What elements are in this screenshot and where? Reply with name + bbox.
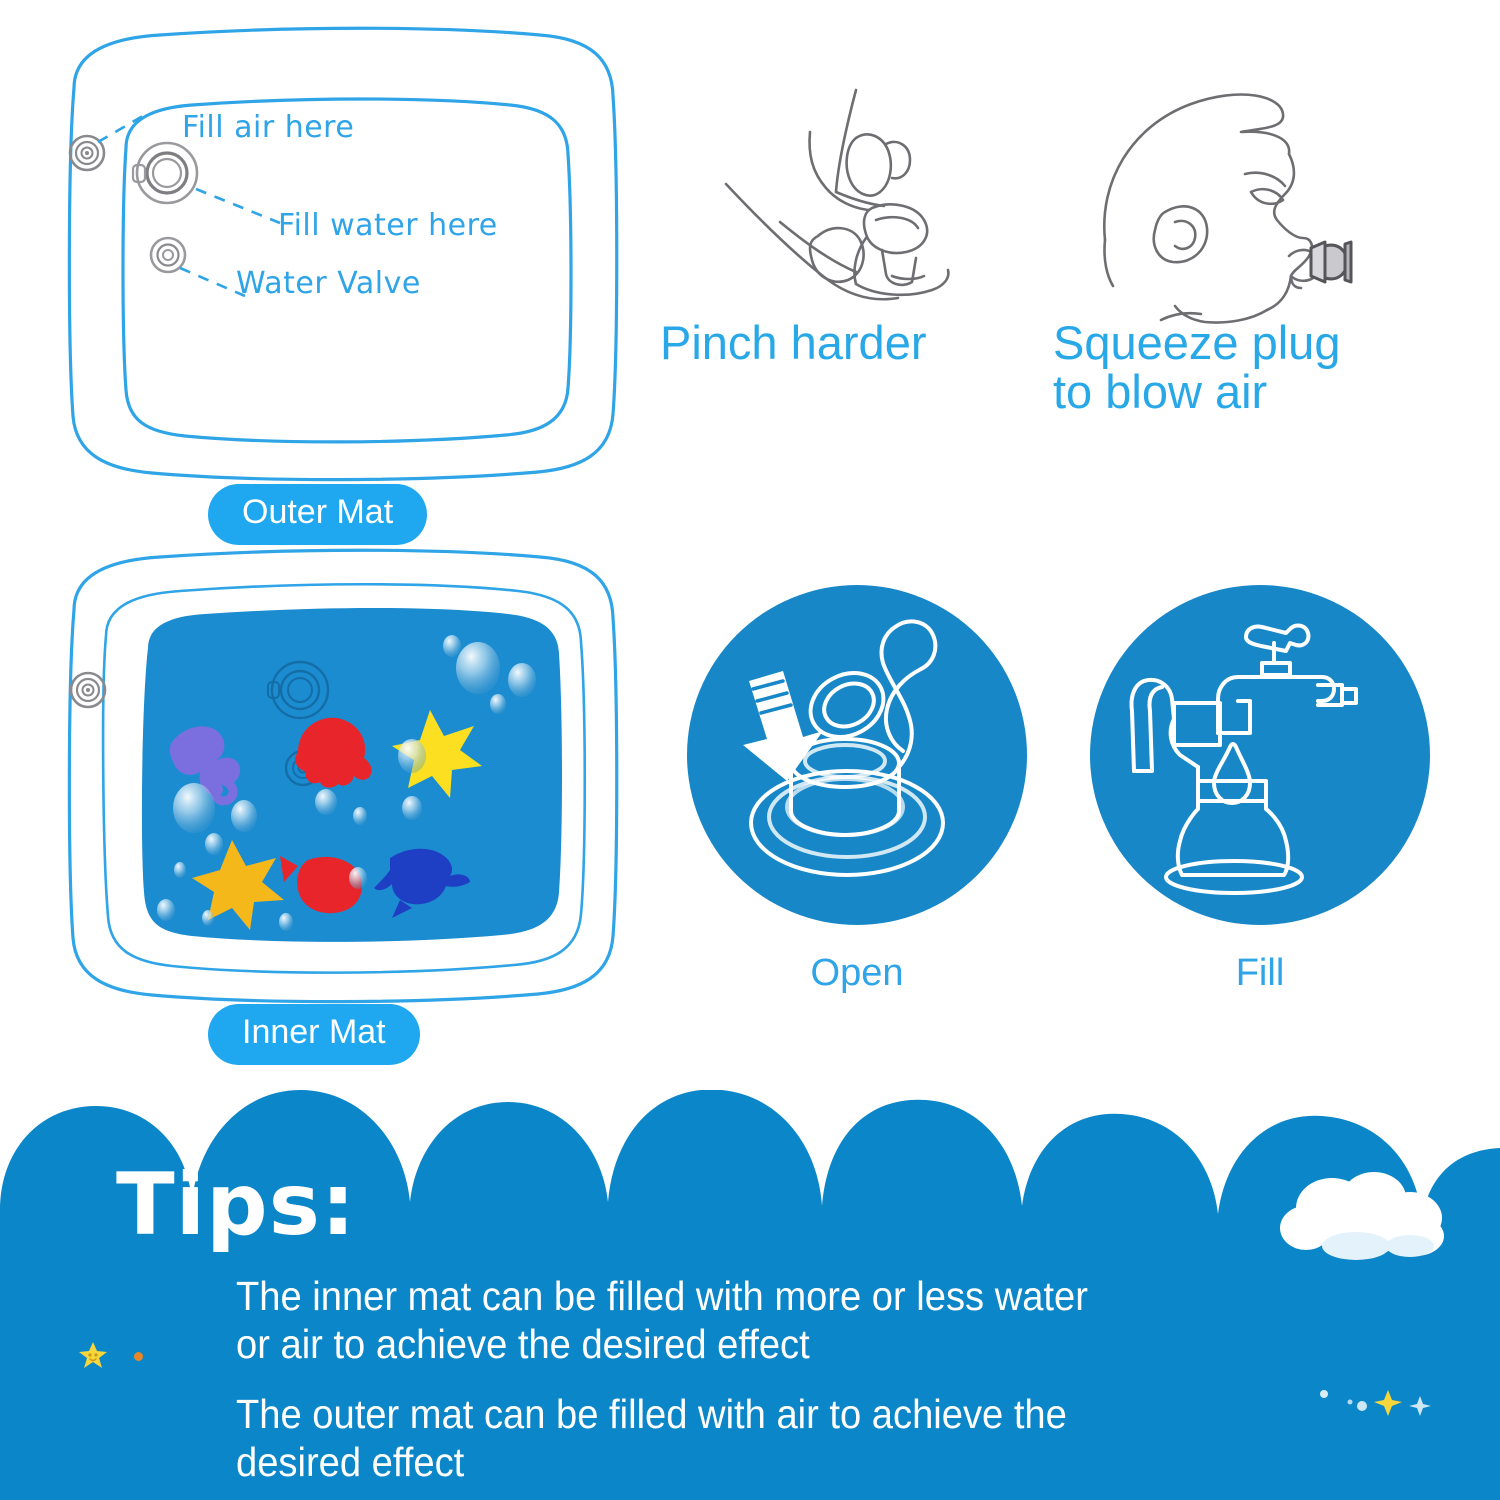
bubble bbox=[349, 867, 367, 889]
outer-mat-outline bbox=[40, 18, 640, 488]
bubble bbox=[174, 862, 186, 878]
air-valve-icon bbox=[71, 673, 105, 707]
inner-mat-outline bbox=[40, 540, 640, 1010]
bubble bbox=[173, 783, 215, 833]
bubble bbox=[443, 635, 461, 657]
bubble bbox=[508, 663, 536, 697]
bubble bbox=[157, 899, 175, 921]
caption-open: Open bbox=[687, 952, 1027, 995]
caption-squeeze-plug: Squeeze plug to blow air bbox=[1053, 318, 1340, 417]
outer-mat-diagram: Fill air here Fill water here Water Valv… bbox=[40, 18, 640, 488]
tip-line-outer-mat: The outer mat can be filled with air to … bbox=[236, 1390, 1287, 1487]
instruction-sheet: Fill air here Fill water here Water Valv… bbox=[0, 0, 1500, 1500]
bubble bbox=[205, 833, 223, 855]
cloud-icon bbox=[1270, 1168, 1460, 1278]
inner-mat-diagram bbox=[40, 540, 640, 1010]
bubble bbox=[353, 807, 367, 825]
caption-fill: Fill bbox=[1090, 952, 1430, 995]
valve-open-arrow-icon bbox=[687, 585, 1027, 925]
star-icon bbox=[78, 1340, 108, 1370]
caption-pinch-harder: Pinch harder bbox=[660, 318, 927, 367]
bubble bbox=[402, 796, 422, 820]
bubble bbox=[315, 789, 337, 815]
dot-icon bbox=[134, 1352, 143, 1361]
water-fill-valve-icon bbox=[133, 143, 197, 203]
bubble bbox=[490, 694, 506, 714]
tips-heading: Tips: bbox=[116, 1155, 356, 1255]
badge-outer-mat: Outer Mat bbox=[208, 484, 427, 545]
callout-label-fill-water: Fill water here bbox=[278, 208, 498, 243]
bubble bbox=[202, 910, 214, 926]
callout-label-water-valve: Water Valve bbox=[236, 266, 421, 301]
bubble bbox=[279, 913, 293, 931]
leader-line-fill-air bbox=[98, 113, 148, 142]
badge-inner-mat: Inner Mat bbox=[208, 1004, 420, 1065]
bubble bbox=[231, 800, 257, 832]
sparkles-icon bbox=[1310, 1380, 1450, 1420]
tip-line-inner-mat: The inner mat can be filled with more or… bbox=[236, 1272, 1287, 1369]
callout-label-fill-air: Fill air here bbox=[182, 110, 354, 145]
faucet-water-drop-icon bbox=[1090, 585, 1430, 925]
bubble bbox=[398, 739, 426, 773]
bubble bbox=[456, 642, 500, 694]
water-valve-icon bbox=[151, 238, 185, 272]
leader-line-fill-water bbox=[196, 189, 280, 223]
